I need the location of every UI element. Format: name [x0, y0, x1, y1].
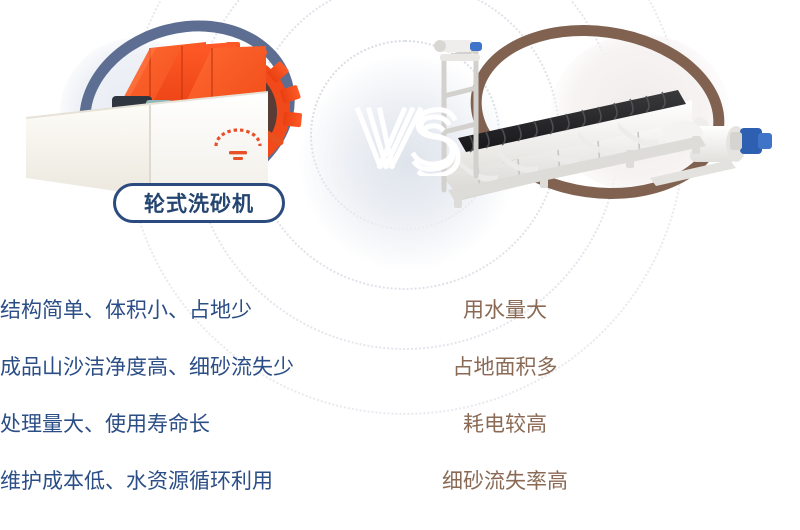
feature-item: 结构简单、体积小、占地少: [0, 282, 400, 339]
product-panel-left: 轮式洗砂机: [0, 0, 400, 240]
feature-item: 占地面积多: [400, 339, 800, 396]
feature-item: 处理量大、使用寿命长: [0, 396, 400, 453]
feature-item: 细砂流失率高: [400, 453, 800, 510]
spiral-sand-washer-photo: [400, 0, 800, 240]
comparison-infographic: 轮式洗砂机: [0, 0, 800, 530]
feature-list-left: 结构简单、体积小、占地少 成品山沙洁净度高、细砂流失少 处理量大、使用寿命长 维…: [0, 282, 400, 510]
feature-item: 用水量大: [400, 282, 800, 339]
product-panel-right: 螺旋洗砂机: [400, 0, 800, 240]
product-name-label-left: 轮式洗砂机: [144, 188, 254, 218]
product-name-pill-left[interactable]: 轮式洗砂机: [113, 183, 285, 223]
feature-item: 耗电较高: [400, 396, 800, 453]
feature-item: 维护成本低、水资源循环利用: [0, 453, 400, 510]
feature-item: 成品山沙洁净度高、细砂流失少: [0, 339, 400, 396]
feature-list-right: 用水量大 占地面积多 耗电较高 细砂流失率高: [400, 282, 800, 510]
